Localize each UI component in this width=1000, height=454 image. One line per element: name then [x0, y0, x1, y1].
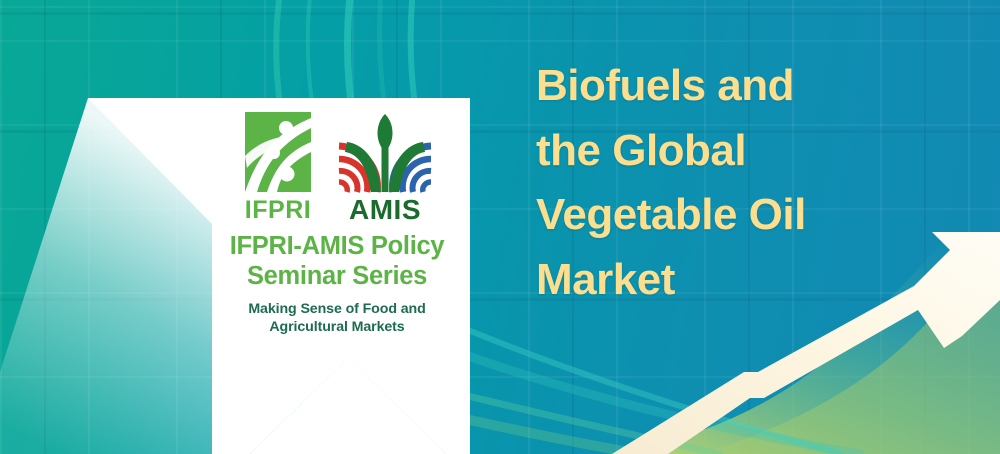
series-title: IFPRI-AMIS Policy Seminar Series: [196, 232, 478, 292]
logo-row: IFPRI: [196, 104, 478, 224]
series-tagline-line1: Making Sense of Food and: [248, 301, 425, 317]
series-title-line2: Seminar Series: [247, 262, 427, 290]
headline-line-1: Biofuels and: [536, 54, 956, 119]
amis-wordmark: AMIS: [349, 194, 421, 224]
headline-line-3: Vegetable Oil: [536, 183, 956, 248]
series-title-line1: IFPRI-AMIS Policy: [230, 232, 445, 260]
seminar-banner: IFPRI: [0, 0, 1000, 454]
headline-line-2: the Global: [536, 119, 956, 184]
series-tagline-line2: Agricultural Markets: [269, 319, 404, 335]
headline-line-4: Market: [536, 248, 956, 313]
amis-logo: AMIS: [333, 112, 437, 224]
headline: Biofuels and the Global Vegetable Oil Ma…: [536, 54, 956, 313]
ifpri-logo: IFPRI: [237, 112, 319, 224]
card-content: IFPRI: [196, 104, 478, 337]
ifpri-wordmark: IFPRI: [245, 196, 311, 224]
series-tagline: Making Sense of Food and Agricultural Ma…: [196, 300, 478, 337]
